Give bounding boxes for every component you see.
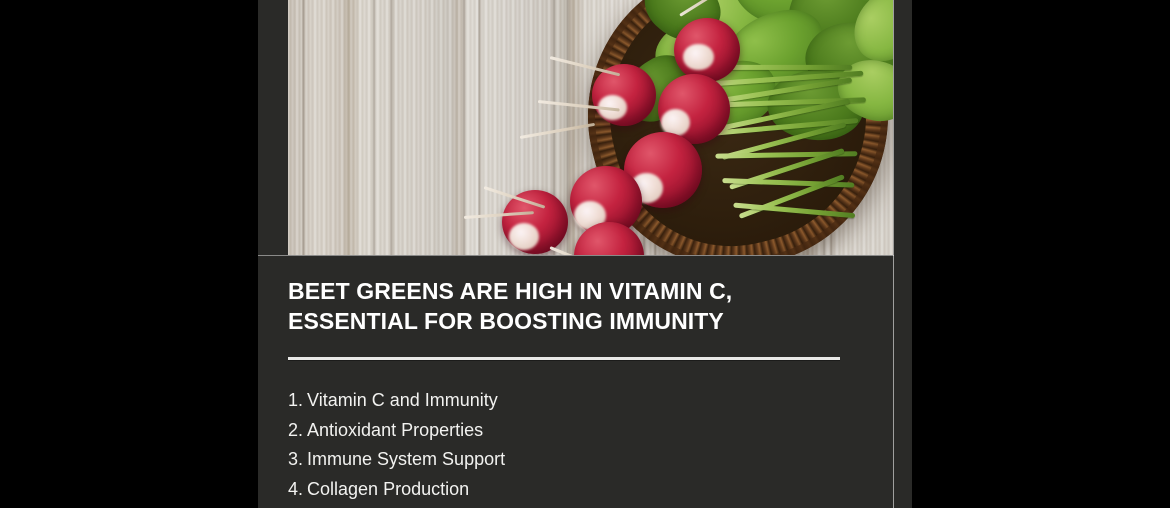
list-item-label: Collagen Production [307, 479, 469, 499]
list-item: 2.Antioxidant Properties [288, 416, 858, 446]
page-title: BEET GREENS ARE HIGH IN VITAMIN C, ESSEN… [288, 276, 858, 336]
list-item-label: Vitamin C and Immunity [307, 390, 498, 410]
photo-bottom-edge-rule [258, 255, 894, 256]
list-item: 3.Immune System Support [288, 445, 858, 475]
list-item: 1.Vitamin C and Immunity [288, 386, 858, 416]
list-item-number: 2. [288, 420, 303, 440]
list-item-number: 4. [288, 479, 303, 499]
list-item: 4.Collagen Production [288, 475, 858, 505]
list-item-label: Antioxidant Properties [307, 420, 483, 440]
title-divider [288, 357, 840, 360]
numbered-topic-list: 1.Vitamin C and Immunity 2.Antioxidant P… [288, 386, 858, 504]
list-item-number: 1. [288, 390, 303, 410]
text-content-block: BEET GREENS ARE HIGH IN VITAMIN C, ESSEN… [288, 276, 858, 504]
hero-photo-radishes-in-basket [288, 0, 893, 255]
letterbox-right-bar [912, 0, 1170, 508]
photo-right-edge-rule [893, 0, 894, 508]
letterbox-left-bar [0, 0, 258, 508]
slide-canvas: BEET GREENS ARE HIGH IN VITAMIN C, ESSEN… [0, 0, 1170, 508]
content-card: BEET GREENS ARE HIGH IN VITAMIN C, ESSEN… [258, 0, 912, 508]
list-item-number: 3. [288, 449, 303, 469]
list-item-label: Immune System Support [307, 449, 505, 469]
